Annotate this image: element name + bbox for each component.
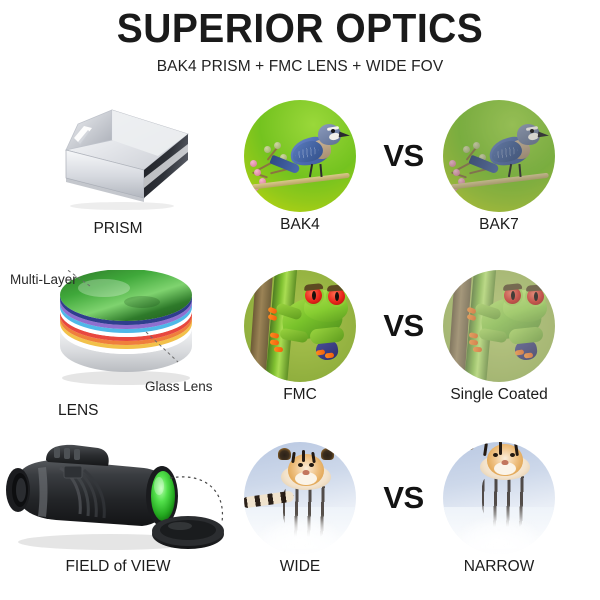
lens-row: Multi-Layer Glass Lens LENS xyxy=(0,262,600,427)
monocular-icon xyxy=(2,438,238,558)
red-eyed-tree-frog xyxy=(264,284,356,376)
wide-photo-circle xyxy=(244,442,356,554)
narrow-photo-circle xyxy=(443,442,555,554)
vs-label-prism: VS xyxy=(356,100,451,212)
bak4-label: BAK4 xyxy=(225,216,375,234)
bak4-photo-circle xyxy=(244,100,356,212)
fov-feature-cell: FIELD of VIEW xyxy=(0,434,236,600)
single-coated-photo-circle xyxy=(443,270,555,382)
glass-lens-callout: Glass Lens xyxy=(145,379,213,394)
fmc-label: FMC xyxy=(225,386,375,404)
multi-layer-callout: Multi-Layer xyxy=(10,272,77,287)
fov-row: FIELD of VIEW xyxy=(0,434,600,600)
vs-label-fov: VS xyxy=(356,442,451,554)
tiger-photo-narrow xyxy=(443,442,555,554)
bluebird xyxy=(483,120,551,192)
bak7-label: BAK7 xyxy=(424,216,574,234)
bak7-photo-circle xyxy=(443,100,555,212)
bluebird-photo-bright xyxy=(244,100,356,212)
bluebird-photo-dim xyxy=(443,100,555,212)
tree-frog-photo-vivid xyxy=(244,270,356,382)
header: SUPERIOR OPTICS BAK4 PRISM + FMC LENS + … xyxy=(0,0,600,76)
prism-row: PRISM xyxy=(0,92,600,252)
brown-stem xyxy=(447,270,473,382)
field-of-view-label: FIELD of VIEW xyxy=(0,558,236,576)
green-stem xyxy=(463,270,496,382)
red-eyed-tree-frog xyxy=(463,284,555,376)
tree-frog-photo-washed xyxy=(443,270,555,382)
lens-comparison: VS xyxy=(236,262,600,427)
prism-icon xyxy=(48,98,198,210)
infographic-page: SUPERIOR OPTICS BAK4 PRISM + FMC LENS + … xyxy=(0,0,600,600)
bluebird xyxy=(284,120,352,192)
prism-feature-cell: PRISM xyxy=(0,92,236,252)
prism-label: PRISM xyxy=(0,220,236,238)
vs-label-lens: VS xyxy=(356,270,451,382)
wide-label: WIDE xyxy=(225,558,375,576)
single-coated-label: Single Coated xyxy=(424,386,574,404)
lens-label: LENS xyxy=(0,402,236,420)
lens-feature-cell: Multi-Layer Glass Lens LENS xyxy=(0,262,236,427)
prism-comparison: VS xyxy=(236,92,600,252)
multilayer-lens-icon xyxy=(38,270,213,388)
tiger-photo-wide xyxy=(244,442,356,554)
page-subtitle: BAK4 PRISM + FMC LENS + WIDE FOV xyxy=(0,49,600,76)
fmc-photo-circle xyxy=(244,270,356,382)
fov-comparison: VS xyxy=(236,434,600,600)
perch-branch xyxy=(445,173,549,191)
snow-spray xyxy=(454,516,544,550)
page-title: SUPERIOR OPTICS xyxy=(15,0,585,49)
blossom-twig xyxy=(449,140,495,190)
narrow-label: NARROW xyxy=(424,558,574,576)
snow-spray xyxy=(255,516,345,550)
